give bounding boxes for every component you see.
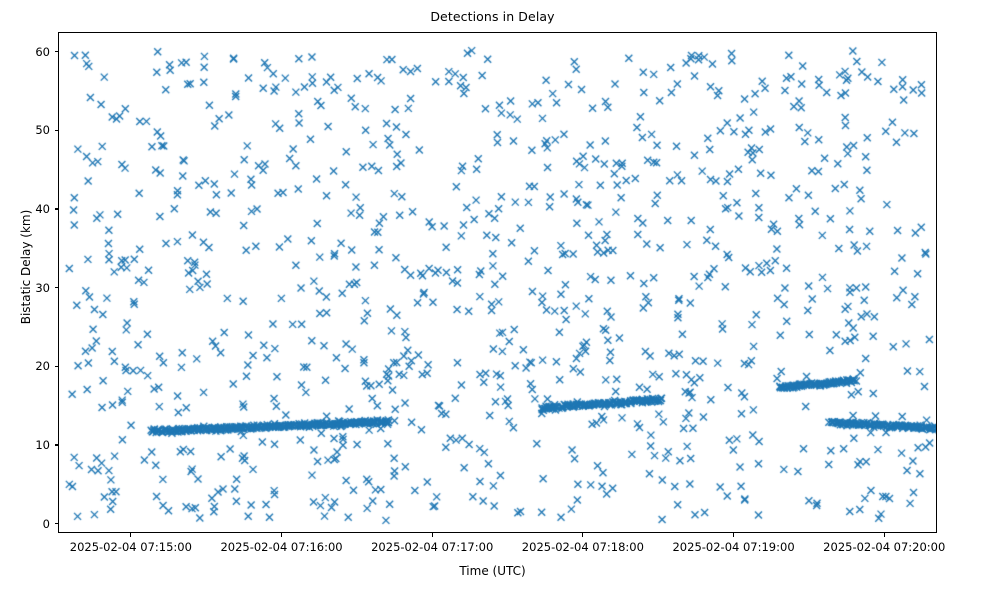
x-tick-mark <box>582 533 583 537</box>
x-tick-mark <box>884 533 885 537</box>
y-tick-mark <box>55 51 59 52</box>
y-axis-label: Bistatic Delay (km) <box>19 117 33 417</box>
x-tick-mark <box>281 533 282 537</box>
scatter-plot-canvas <box>59 33 937 533</box>
y-tick-mark <box>55 208 59 209</box>
chart-figure: Detections in Delay 2025-02-04 07:15:002… <box>0 0 985 590</box>
x-tick-label: 2025-02-04 07:18:00 <box>522 540 644 554</box>
y-tick-mark <box>55 444 59 445</box>
x-tick-label: 2025-02-04 07:16:00 <box>220 540 342 554</box>
x-axis-label: Time (UTC) <box>0 564 985 578</box>
x-tick-mark <box>733 533 734 537</box>
y-tick-mark <box>55 523 59 524</box>
y-tick-label: 60 <box>10 45 50 59</box>
x-tick-label: 2025-02-04 07:15:00 <box>70 540 192 554</box>
x-tick-label: 2025-02-04 07:19:00 <box>672 540 794 554</box>
y-tick-label: 0 <box>10 517 50 531</box>
y-tick-mark <box>55 366 59 367</box>
x-tick-label: 2025-02-04 07:20:00 <box>823 540 945 554</box>
y-tick-mark <box>55 287 59 288</box>
y-tick-label: 10 <box>10 438 50 452</box>
x-tick-label: 2025-02-04 07:17:00 <box>371 540 493 554</box>
x-tick-mark <box>432 533 433 537</box>
page-title: Detections in Delay <box>0 9 985 24</box>
plot-area <box>58 32 937 533</box>
y-tick-mark <box>55 130 59 131</box>
x-tick-mark <box>130 533 131 537</box>
